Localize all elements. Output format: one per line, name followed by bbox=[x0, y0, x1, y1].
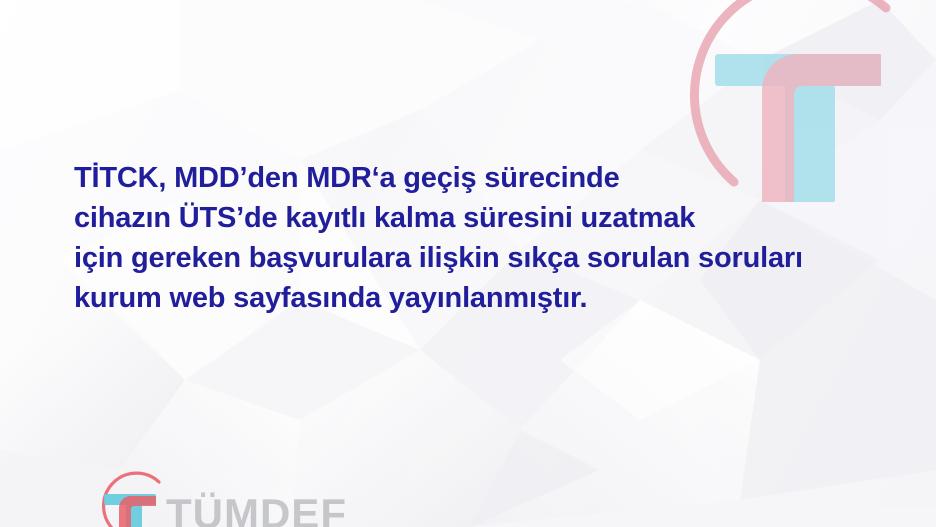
slide-canvas: TİTCK, MDD’den MDR‘a geçiş sürecinde cih… bbox=[0, 0, 936, 527]
tumdef-logo-mark bbox=[88, 468, 162, 527]
headline: TİTCK, MDD’den MDR‘a geçiş sürecinde cih… bbox=[74, 158, 884, 318]
headline-line-1: TİTCK, MDD’den MDR‘a geçiş sürecinde bbox=[74, 158, 884, 198]
tumdef-logo-wordmark: TÜMDEF bbox=[166, 493, 347, 527]
headline-line-3: için gereken başvurulara ilişkin sıkça s… bbox=[74, 238, 884, 278]
tumdef-logo: TÜMDEF bbox=[88, 466, 347, 527]
headline-line-4: kurum web sayfasında yayınlanmıştır. bbox=[74, 278, 884, 318]
headline-line-2: cihazın ÜTS’de kayıtlı kalma süresini uz… bbox=[74, 198, 884, 238]
